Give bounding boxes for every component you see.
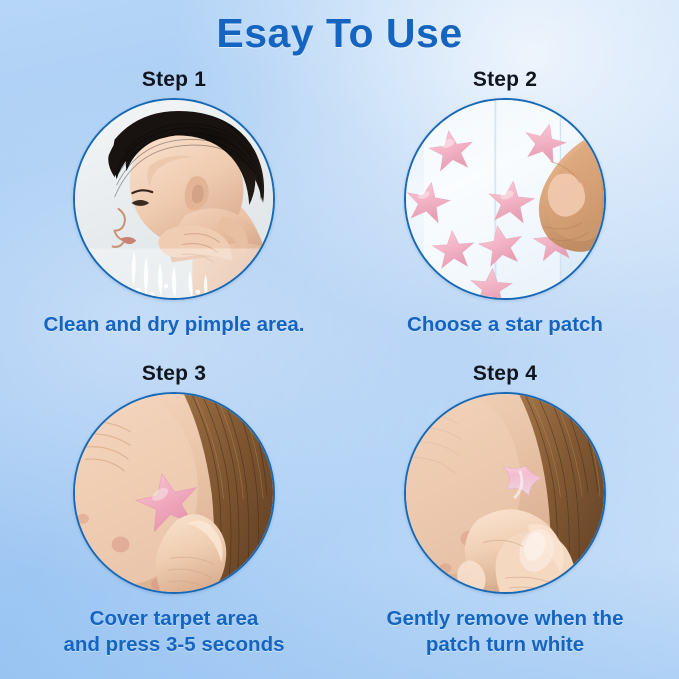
- step-card-2: Step 2: [345, 68, 665, 338]
- step-3-photo-wrap: [73, 392, 275, 594]
- step-card-1: Step 1: [14, 68, 334, 338]
- photo-remove-patch: [404, 392, 606, 594]
- photo-washing-face: [73, 98, 275, 300]
- page-title: Esay To Use: [0, 10, 679, 57]
- photo-star-patch-sheet: [404, 98, 606, 300]
- step-4-photo-wrap: [404, 392, 606, 594]
- step-4-caption: Gently remove when the patch turn white: [345, 606, 665, 658]
- step-1-caption: Clean and dry pimple area.: [14, 312, 334, 338]
- step-4-label: Step 4: [345, 362, 665, 386]
- easy-to-use-instruction-poster: Esay To Use Step 1: [0, 0, 679, 679]
- step-1-photo-wrap: [73, 98, 275, 300]
- step-2-caption: Choose a star patch: [345, 312, 665, 338]
- step-2-photo-wrap: [404, 98, 606, 300]
- step-card-4: Step 4: [345, 362, 665, 658]
- step-1-label: Step 1: [14, 68, 334, 92]
- step-card-3: Step 3: [14, 362, 334, 658]
- photo-apply-patch: [73, 392, 275, 594]
- step-2-label: Step 2: [345, 68, 665, 92]
- step-3-label: Step 3: [14, 362, 334, 386]
- step-3-caption: Cover tarpet area and press 3-5 seconds: [14, 606, 334, 658]
